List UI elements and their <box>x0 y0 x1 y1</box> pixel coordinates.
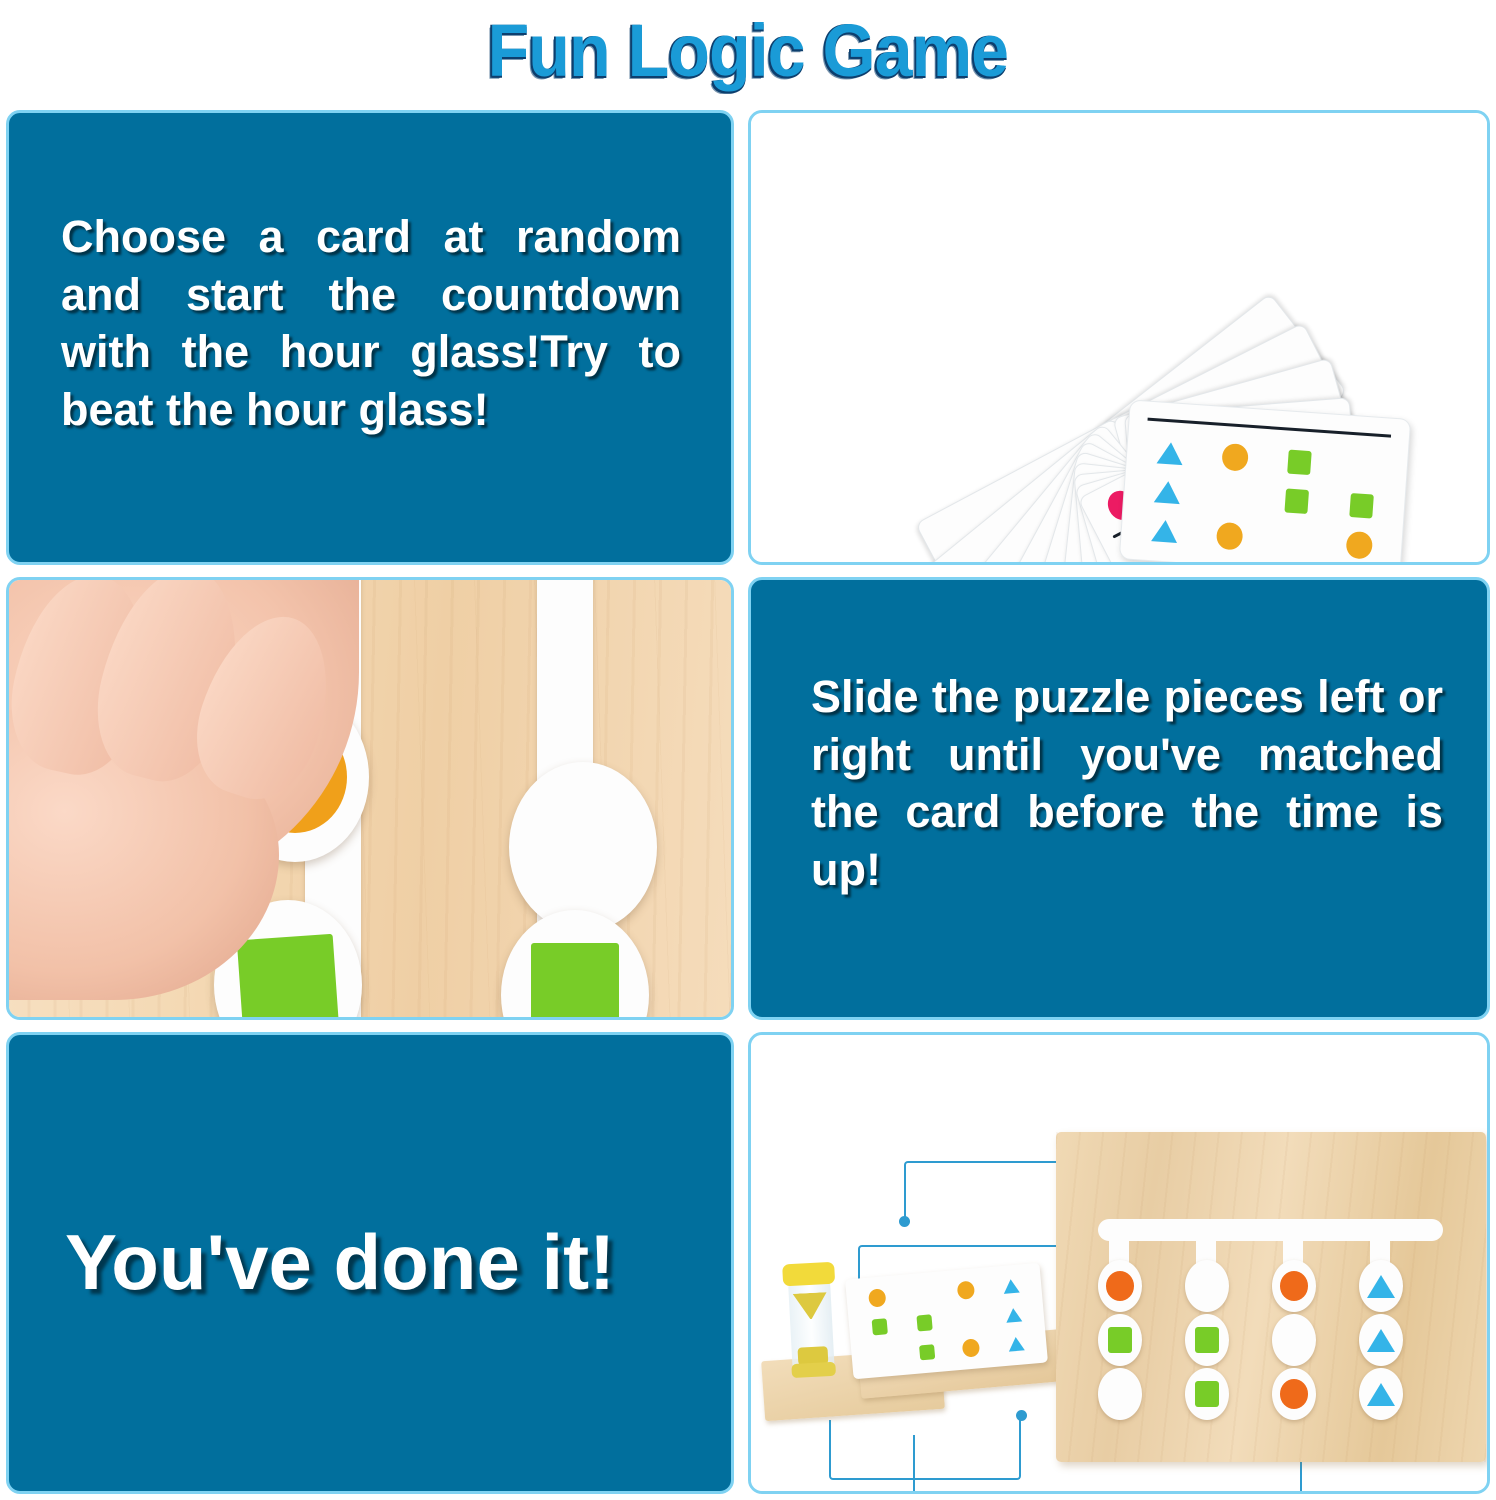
board-piece[interactable] <box>1098 1314 1142 1366</box>
board-piece[interactable] <box>1272 1314 1316 1366</box>
grid-cell <box>992 1328 1039 1361</box>
board-horizontal-slot <box>1098 1219 1443 1241</box>
grid-cell <box>1260 519 1328 563</box>
blue-triangle-icon <box>1156 441 1183 465</box>
green-square-icon <box>1195 1327 1220 1353</box>
panel-photo-hand <box>6 577 734 1020</box>
blue-triangle-icon <box>1367 1275 1395 1298</box>
orange-circle-icon <box>1280 1379 1308 1409</box>
panel-step-1: Choose a card at random and start the co… <box>6 110 734 565</box>
finished-board-photo <box>751 1035 1487 1491</box>
grid-cell <box>945 1302 992 1335</box>
board-piece[interactable] <box>1359 1314 1403 1366</box>
grid-cell <box>1131 510 1199 554</box>
red-star-icon <box>524 791 642 903</box>
panel-step-3: You've done it! <box>6 1032 734 1494</box>
step-3-text: You've done it! <box>65 1035 705 1491</box>
card-fan-photo: 123456789101112131415161718 <box>751 113 1487 562</box>
connector-dot <box>899 1216 910 1227</box>
blue-triangle-icon <box>1367 1383 1395 1406</box>
orange-circle-icon <box>1221 443 1249 472</box>
hand-puzzle-photo <box>9 580 731 1017</box>
green-square-icon <box>531 943 619 1020</box>
green-square-icon <box>916 1315 932 1332</box>
grid-cell <box>1133 470 1201 514</box>
page-header: Fun Logic Game <box>0 0 1496 100</box>
orange-circle-icon <box>962 1339 981 1358</box>
grid-cell <box>856 1310 903 1343</box>
blue-triangle-icon <box>1005 1307 1022 1322</box>
hourglass-cap-bottom <box>791 1362 836 1378</box>
blue-triangle-icon <box>1007 1337 1024 1352</box>
grid-cell <box>1201 436 1269 480</box>
grid-cell <box>854 1281 901 1314</box>
green-square-icon <box>919 1344 935 1361</box>
green-square-icon <box>237 934 339 1020</box>
wooden-logic-board <box>1056 1132 1486 1462</box>
grid-cell <box>1328 484 1396 528</box>
green-square-icon <box>1108 1327 1133 1353</box>
reference-card-grid <box>854 1269 1040 1372</box>
panel-step-2: Slide the puzzle pieces left or right un… <box>748 577 1490 1020</box>
blue-triangle-icon <box>1153 480 1180 504</box>
red-star-icon <box>912 1284 932 1303</box>
grid-cell <box>859 1340 906 1373</box>
board-piece[interactable] <box>1185 1314 1229 1366</box>
board-piece[interactable] <box>1098 1260 1142 1312</box>
orange-circle-icon <box>1106 1271 1134 1301</box>
blue-triangle-icon <box>1002 1278 1019 1293</box>
grid-cell <box>948 1332 995 1365</box>
board-piece[interactable] <box>1272 1260 1316 1312</box>
board-piece[interactable] <box>1272 1368 1316 1420</box>
pattern-card-grid <box>1131 431 1399 565</box>
grid-cell <box>990 1299 1037 1332</box>
green-square-icon <box>1349 493 1373 518</box>
reference-card <box>845 1263 1048 1380</box>
grid-cell <box>901 1306 948 1339</box>
red-star-icon <box>1105 1379 1136 1408</box>
grid-cell <box>1136 431 1204 475</box>
orange-circle-icon <box>1215 521 1243 550</box>
red-star-icon <box>1279 1325 1310 1354</box>
orange-circle-icon <box>868 1288 887 1307</box>
red-star-icon <box>1192 1271 1223 1300</box>
board-piece[interactable] <box>1359 1260 1403 1312</box>
orange-circle-icon <box>957 1280 976 1299</box>
red-star-icon <box>959 1309 979 1328</box>
panel-photo-board <box>748 1032 1490 1494</box>
board-piece[interactable] <box>1359 1368 1403 1420</box>
connector-dot <box>1016 1410 1027 1421</box>
board-piece[interactable] <box>1185 1368 1229 1420</box>
red-star-icon <box>872 1346 892 1365</box>
green-square-icon <box>1284 489 1308 514</box>
board-piece[interactable] <box>1098 1368 1142 1420</box>
grid-cell <box>1195 514 1263 558</box>
orange-circle-icon <box>1345 530 1373 559</box>
blue-triangle-icon <box>1151 520 1178 544</box>
grid-cell <box>1325 523 1393 565</box>
grid-cell <box>1198 475 1266 519</box>
green-square-icon <box>1195 1381 1220 1407</box>
step-1-text: Choose a card at random and start the co… <box>61 208 681 438</box>
red-star-icon <box>1217 482 1247 511</box>
orange-circle-icon <box>1280 1271 1308 1301</box>
grid-cell <box>943 1273 990 1306</box>
grid-cell <box>1266 440 1334 484</box>
grid-cell <box>903 1336 950 1369</box>
green-square-icon <box>1287 449 1311 474</box>
grid-cell <box>987 1269 1034 1302</box>
red-star-icon <box>1279 526 1309 555</box>
blue-triangle-icon <box>1367 1329 1395 1352</box>
grid-cell <box>898 1277 945 1310</box>
step-2-text: Slide the puzzle pieces left or right un… <box>811 668 1443 898</box>
grid-cell <box>1331 445 1399 489</box>
page-title: Fun Logic Game <box>488 8 1008 93</box>
board-piece[interactable] <box>1185 1260 1229 1312</box>
pattern-card-front <box>1119 399 1411 565</box>
infographic-page: Fun Logic Game Choose a card at random a… <box>0 0 1496 1500</box>
red-star-icon <box>1349 452 1379 481</box>
panel-photo-cards: 123456789101112131415161718 <box>748 110 1490 565</box>
hourglass <box>780 1262 842 1377</box>
tile-red-star <box>509 762 657 932</box>
grid-cell <box>1263 479 1331 523</box>
hourglass-cap-top <box>782 1262 835 1287</box>
green-square-icon <box>871 1318 887 1335</box>
